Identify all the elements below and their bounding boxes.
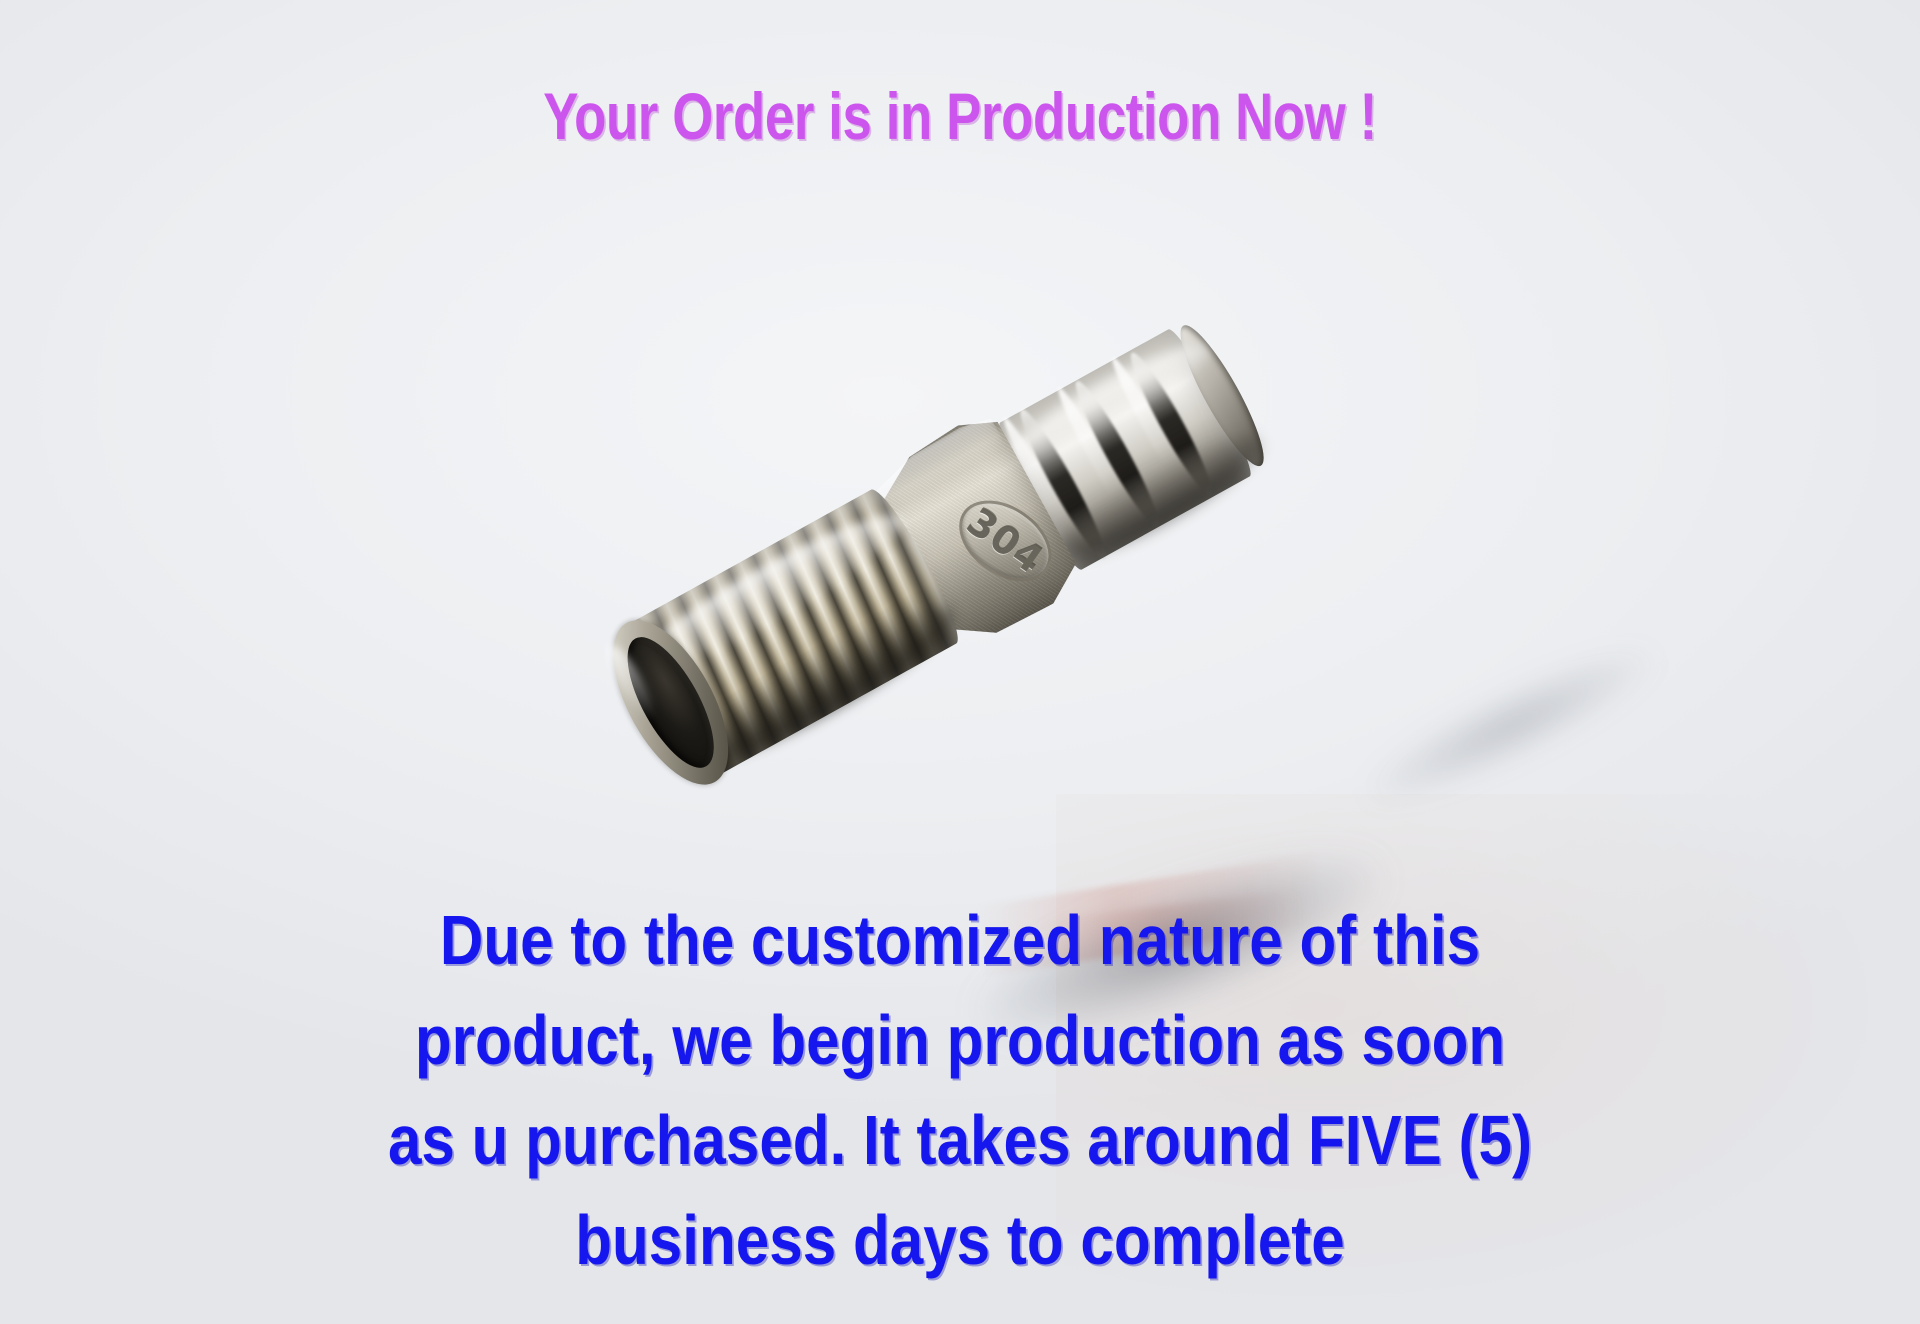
notice-line-1: Due to the customized nature of this bbox=[134, 890, 1785, 990]
notice-line-3: as u purchased. It takes around FIVE (5) bbox=[134, 1090, 1785, 1190]
product-photo: 304 bbox=[545, 300, 1265, 820]
production-notice-text: Due to the customized nature of this pro… bbox=[0, 890, 1920, 1290]
promo-banner: Your Order is in Production Now ! 304 bbox=[0, 0, 1920, 1324]
notice-line-4: business days to complete bbox=[134, 1190, 1785, 1290]
page-title: Your Order is in Production Now ! bbox=[192, 78, 1728, 154]
notice-line-2: product, we begin production as soon bbox=[134, 990, 1785, 1090]
